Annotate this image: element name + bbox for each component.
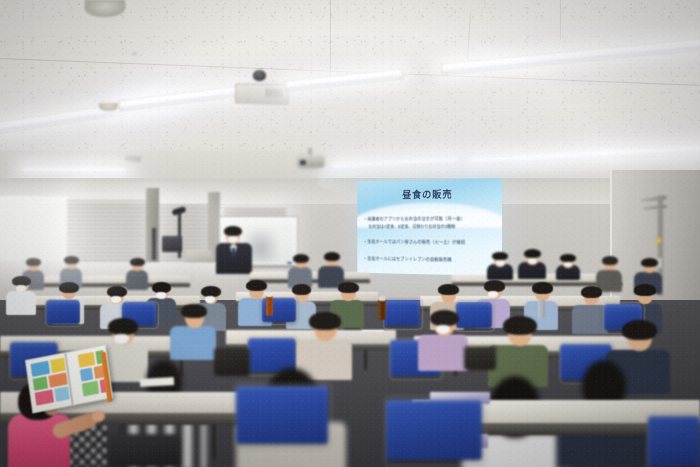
ceiling-speaker-icon <box>85 0 125 17</box>
stand-pole <box>152 228 156 260</box>
audience-member <box>418 310 468 368</box>
bottle-cap <box>267 292 272 297</box>
bottle-cap <box>379 296 385 301</box>
student-hair <box>524 249 541 258</box>
ceiling-speaker-icon <box>99 103 118 111</box>
ceiling-seam <box>560 0 561 40</box>
student-hair <box>492 252 508 260</box>
podium-device <box>186 250 212 262</box>
fluorescent-strip-light <box>22 168 126 173</box>
ceiling-ac-vent <box>235 83 290 104</box>
student-hair <box>560 254 576 262</box>
bag-on-floor <box>108 434 180 467</box>
slide-bullet: ・保護者のアプリからお弁当の注文が可能（月～金） <box>363 216 497 223</box>
slide-bullet: ・生徒ホールではパン屋さんの販売（火～土）が継続 <box>363 239 497 246</box>
student-face-mask <box>528 258 537 264</box>
window-panel <box>0 196 68 262</box>
audience-member <box>126 258 148 288</box>
classroom-chair <box>386 400 482 460</box>
uniformed-student <box>518 249 546 278</box>
equipment-box <box>162 236 182 252</box>
tote-bag <box>214 348 250 376</box>
classroom-chair <box>236 386 328 444</box>
drink-bottle <box>266 296 273 316</box>
ceiling-sensor-icon <box>132 52 137 55</box>
audience-member <box>288 254 312 286</box>
classroom-chair <box>648 416 700 467</box>
projector-lens-icon <box>300 160 306 165</box>
uniformed-student <box>487 252 513 278</box>
classroom-chair <box>46 300 80 324</box>
drink-bottle <box>378 300 386 320</box>
presenter-hair <box>224 226 242 236</box>
presenter-face-mask <box>228 236 238 243</box>
audience-member <box>6 276 36 312</box>
audience-member <box>488 316 548 384</box>
student-face-mask <box>496 260 505 266</box>
slide-bullet-sub: お弁当はA定食、B定食、日替わりお弁当の3種類 <box>368 224 497 230</box>
presenter-tie <box>232 248 235 257</box>
tote-bag <box>464 346 496 370</box>
uniformed-student <box>556 254 580 279</box>
projection-screen: 昼食の販売 ・保護者のアプリからお弁当の注文が可能（月～金） お弁当はA定食、B… <box>357 178 502 276</box>
classroom-presentation-photo: 昼食の販売 ・保護者のアプリからお弁当の注文が可能（月～金） お弁当はA定食、B… <box>0 0 700 467</box>
ceiling-dome-camera-icon <box>253 70 266 81</box>
audience-member <box>170 304 216 356</box>
slide-bullet: ・生徒ホールにはセブンイレブンの自動販売機 <box>363 256 497 265</box>
wall-bracket-label <box>656 238 661 243</box>
projected-slide: 昼食の販売 ・保護者のアプリからお弁当の注文が可能（月～金） お弁当はA定食、B… <box>357 178 502 276</box>
slide-title: 昼食の販売 <box>357 185 502 202</box>
window-panel-with-blinds <box>66 200 156 262</box>
presenter <box>214 228 254 274</box>
audience-member <box>596 256 622 290</box>
classroom-chair <box>384 300 420 326</box>
student-face-mask <box>564 262 572 267</box>
audience-member <box>318 252 344 286</box>
classroom-chair <box>248 338 296 372</box>
